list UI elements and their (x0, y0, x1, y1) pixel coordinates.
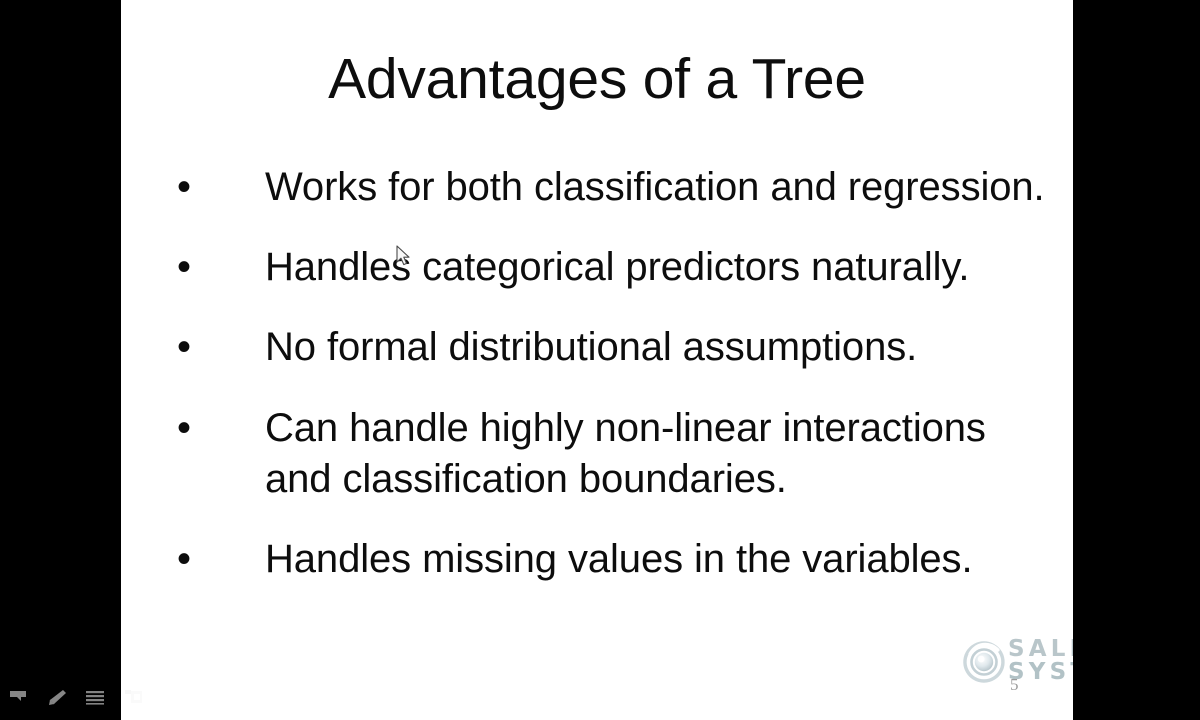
bullet-dot-icon: • (177, 322, 207, 373)
salford-swirl-mark-icon (962, 640, 1006, 684)
list-item-text: Handles categorical predictors naturally… (265, 242, 1053, 293)
letterbox-left (0, 0, 121, 720)
slide-page-number: 5 (1010, 675, 1019, 695)
list-item: • Handles missing values in the variable… (173, 534, 1053, 585)
previous-slide-icon[interactable] (8, 688, 30, 706)
list-item: • Works for both classification and regr… (173, 162, 1053, 213)
slide-canvas[interactable]: Advantages of a Tree • Works for both cl… (121, 0, 1073, 720)
bullet-dot-icon: • (177, 242, 207, 293)
list-item-text: Can handle highly non-linear interaction… (265, 403, 1053, 505)
page-title: Advantages of a Tree (121, 48, 1073, 112)
logo-line-salford: Salford (1008, 638, 1073, 661)
list-item-text: Handles missing values in the variables. (265, 534, 1053, 585)
list-item: • No formal distributional assumptions. (173, 322, 1053, 373)
bullet-list: • Works for both classification and regr… (173, 162, 1053, 585)
letterbox-right (1073, 0, 1200, 720)
slideshow-control-bar[interactable] (8, 688, 144, 706)
next-slide-icon[interactable] (122, 688, 144, 706)
pen-icon[interactable] (46, 688, 68, 706)
bullet-dot-icon: • (177, 534, 207, 585)
bullet-dot-icon: • (177, 403, 207, 454)
list-item: • Handles categorical predictors natural… (173, 242, 1053, 293)
presentation-screen: Advantages of a Tree • Works for both cl… (0, 0, 1200, 720)
list-item-text: No formal distributional assumptions. (265, 322, 1053, 373)
slide-menu-icon[interactable] (84, 688, 106, 706)
list-item-text: Works for both classification and regres… (265, 162, 1053, 213)
bullet-dot-icon: • (177, 162, 207, 213)
list-item: • Can handle highly non-linear interacti… (173, 403, 1053, 505)
